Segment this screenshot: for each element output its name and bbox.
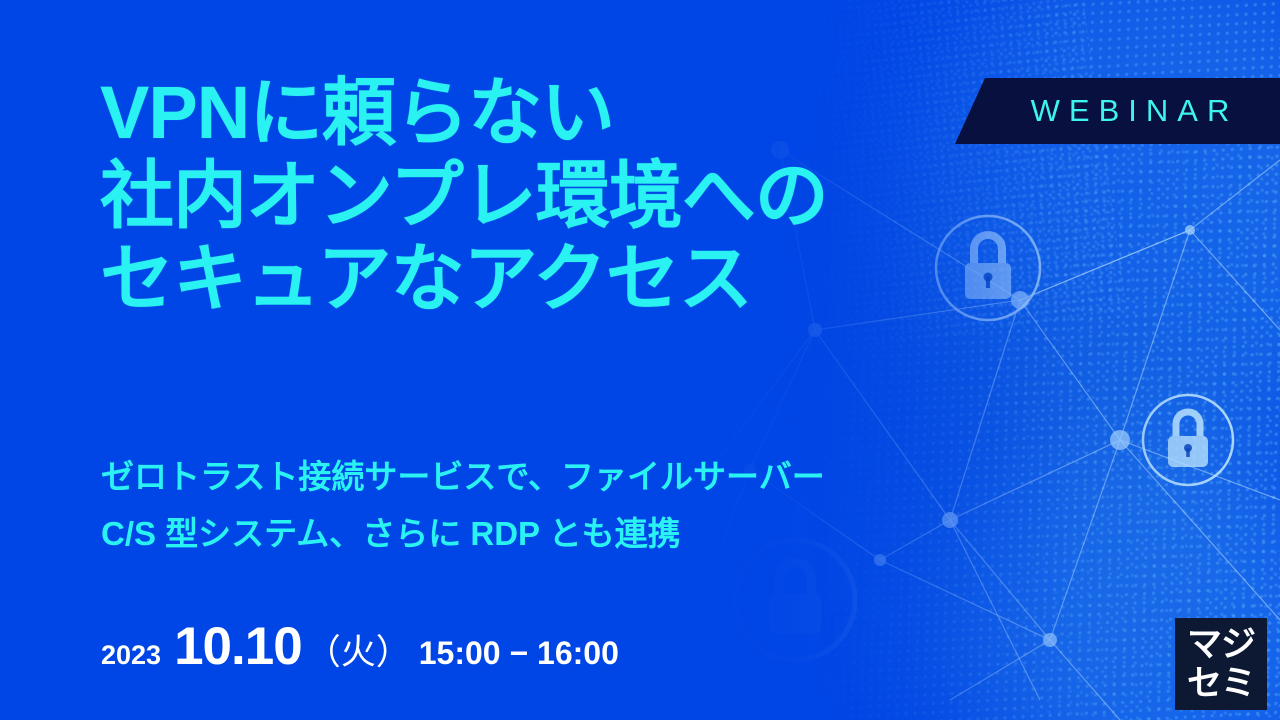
logo-line-1: マジ: [1187, 627, 1255, 662]
logo-line-2: セミ: [1187, 666, 1255, 701]
subtitle-line-1: ゼロトラスト接続サービスで、ファイルサーバー: [101, 449, 825, 506]
background-glow: [880, 0, 1280, 460]
title-line-3: セキュアなアクセス: [100, 238, 828, 321]
title-line-1: VPNに頼らない: [100, 72, 828, 155]
subtitle-line-2: C/S 型システム、さらに RDP とも連携: [101, 506, 825, 563]
background-glow: [780, 300, 1240, 720]
event-datetime: 2023 10.10 （火） 15:00 − 16:00: [101, 616, 619, 677]
webinar-badge: WEBINAR: [955, 78, 1280, 144]
page-subtitle: ゼロトラスト接続サービスで、ファイルサーバー C/S 型システム、さらに RDP…: [101, 449, 825, 563]
webinar-badge-label: WEBINAR: [997, 93, 1239, 129]
event-day: 10.10: [174, 616, 302, 677]
majisemi-logo: マジ セミ: [1175, 618, 1267, 710]
webinar-banner: WEBINAR VPNに頼らない 社内オンプレ環境への セキュアなアクセス ゼロ…: [0, 0, 1280, 720]
event-year: 2023: [101, 640, 161, 671]
padlock-icon: [936, 216, 1040, 320]
event-time: 15:00 − 16:00: [419, 635, 619, 672]
padlock-icon: [1143, 395, 1233, 485]
title-line-2: 社内オンプレ環境への: [100, 155, 828, 238]
page-title: VPNに頼らない 社内オンプレ環境への セキュアなアクセス: [100, 72, 828, 321]
event-day-of-week: （火）: [306, 624, 411, 675]
